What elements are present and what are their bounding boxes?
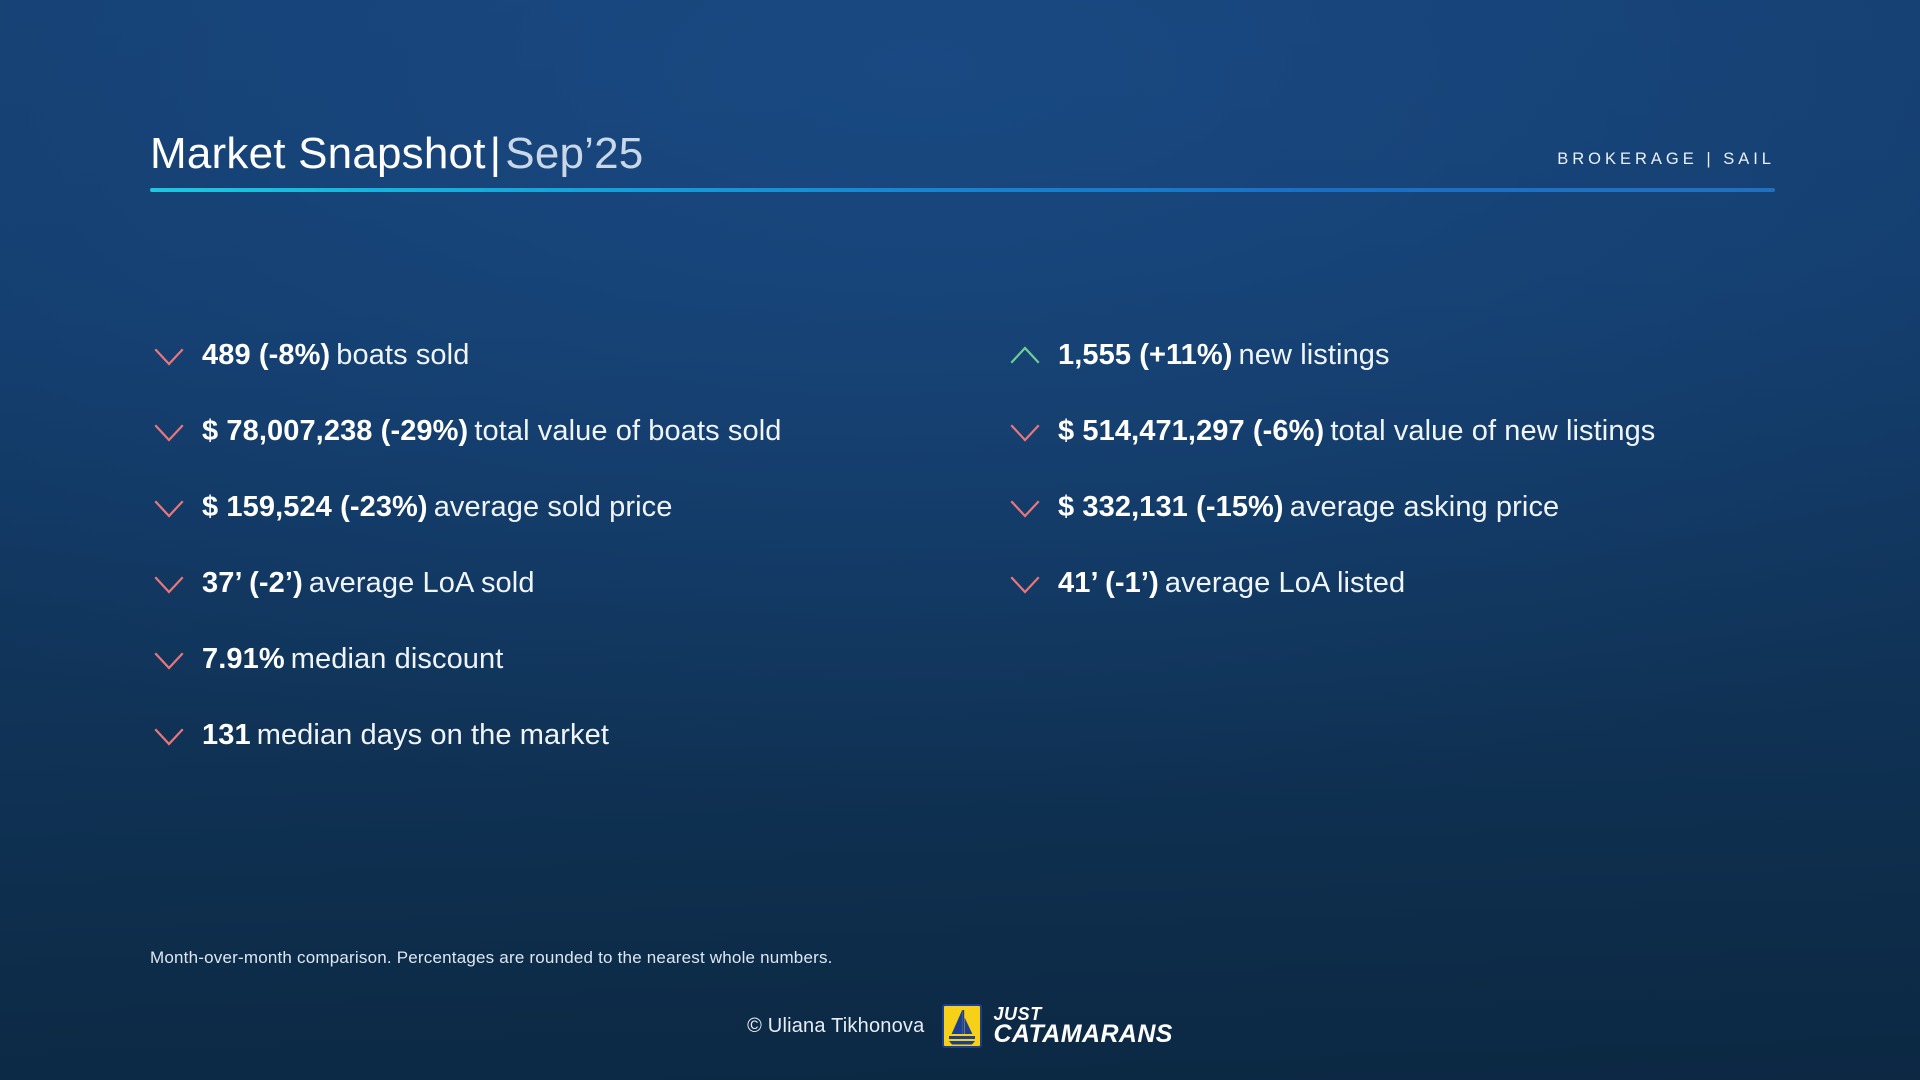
page-title-period: Sep’25 — [505, 129, 643, 178]
metrics-grid: 489 (-8%)boats sold$ 78,007,238 (-29%)to… — [150, 318, 1820, 774]
metric-row: $ 159,524 (-23%)average sold price — [150, 470, 970, 546]
metric-value: $ 332,131 (-15%) — [1058, 491, 1284, 523]
metric-row: 1,555 (+11%)new listings — [1006, 318, 1820, 394]
metric-value: 131 — [202, 719, 251, 751]
metric-row: 41’ (-1’)average LoA listed — [1006, 546, 1820, 622]
metric-text: 41’ (-1’)average LoA listed — [1058, 568, 1405, 600]
metric-label: boats sold — [330, 339, 469, 371]
footnote: Month-over-month comparison. Percentages… — [150, 948, 833, 968]
metric-value: 1,555 (+11%) — [1058, 339, 1233, 371]
metrics-column-left: 489 (-8%)boats sold$ 78,007,238 (-29%)to… — [150, 318, 970, 774]
chevron-down-icon — [150, 489, 188, 527]
header: Market Snapshot|Sep’25 BROKERAGE | SAIL — [150, 118, 1775, 198]
metric-row: 131median days on the market — [150, 698, 970, 774]
metric-row: $ 514,471,297 (-6%)total value of new li… — [1006, 394, 1820, 470]
metric-value: 489 (-8%) — [202, 339, 330, 371]
metric-text: 7.91%median discount — [202, 644, 503, 676]
metric-text: $ 514,471,297 (-6%)total value of new li… — [1058, 416, 1655, 448]
chevron-down-icon — [150, 641, 188, 679]
metric-text: 131median days on the market — [202, 720, 609, 752]
metric-label: average asking price — [1284, 491, 1560, 523]
chevron-down-icon — [1006, 489, 1044, 527]
metric-text: 1,555 (+11%)new listings — [1058, 340, 1390, 372]
metric-value: $ 514,471,297 (-6%) — [1058, 415, 1324, 447]
chevron-down-icon — [1006, 565, 1044, 603]
slide-root: Market Snapshot|Sep’25 BROKERAGE | SAIL … — [0, 0, 1920, 1080]
chevron-down-icon — [150, 413, 188, 451]
chevron-down-icon — [150, 337, 188, 375]
metric-text: 489 (-8%)boats sold — [202, 340, 469, 372]
sailboat-logo-icon — [942, 1004, 982, 1048]
metric-row: 37’ (-2’)average LoA sold — [150, 546, 970, 622]
metric-text: 37’ (-2’)average LoA sold — [202, 568, 535, 600]
header-title-row: Market Snapshot|Sep’25 BROKERAGE | SAIL — [150, 118, 1775, 176]
metric-label: median discount — [285, 643, 504, 675]
copyright-credit: © Uliana Tikhonova — [747, 1015, 924, 1038]
metric-value: $ 159,524 (-23%) — [202, 491, 428, 523]
chevron-down-icon — [150, 717, 188, 755]
page-title-separator: | — [486, 129, 506, 178]
page-title: Market Snapshot|Sep’25 — [150, 132, 643, 176]
metric-label: total value of new listings — [1324, 415, 1655, 447]
chevron-down-icon — [1006, 413, 1044, 451]
metric-label: new listings — [1233, 339, 1390, 371]
metric-text: $ 159,524 (-23%)average sold price — [202, 492, 672, 524]
chevron-down-icon — [150, 565, 188, 603]
metric-text: $ 332,131 (-15%)average asking price — [1058, 492, 1559, 524]
header-eyebrow: BROKERAGE | SAIL — [1557, 150, 1775, 176]
metric-label: average LoA listed — [1159, 567, 1405, 599]
metric-value: 37’ (-2’) — [202, 567, 303, 599]
metric-label: average sold price — [428, 491, 673, 523]
metric-label: total value of boats sold — [468, 415, 781, 447]
metric-label: median days on the market — [251, 719, 609, 751]
metric-value: 41’ (-1’) — [1058, 567, 1159, 599]
brand-logo: JUST CATAMARANS — [942, 1004, 1172, 1048]
metric-row: $ 332,131 (-15%)average asking price — [1006, 470, 1820, 546]
metric-value: 7.91% — [202, 643, 285, 675]
brand-wordmark: JUST CATAMARANS — [993, 1006, 1172, 1046]
credit-bar: © Uliana Tikhonova JUST CATAMARANS — [0, 1004, 1920, 1048]
metric-row: $ 78,007,238 (-29%)total value of boats … — [150, 394, 970, 470]
metric-label: average LoA sold — [303, 567, 535, 599]
metric-text: $ 78,007,238 (-29%)total value of boats … — [202, 416, 782, 448]
metric-row: 489 (-8%)boats sold — [150, 318, 970, 394]
metric-row: 7.91%median discount — [150, 622, 970, 698]
metric-value: $ 78,007,238 (-29%) — [202, 415, 468, 447]
metrics-column-right: 1,555 (+11%)new listings$ 514,471,297 (-… — [1006, 318, 1820, 774]
page-title-main: Market Snapshot — [150, 129, 486, 178]
brand-wordmark-bottom: CATAMARANS — [993, 1023, 1172, 1046]
chevron-up-icon — [1006, 337, 1044, 375]
header-accent-rule — [150, 188, 1775, 192]
